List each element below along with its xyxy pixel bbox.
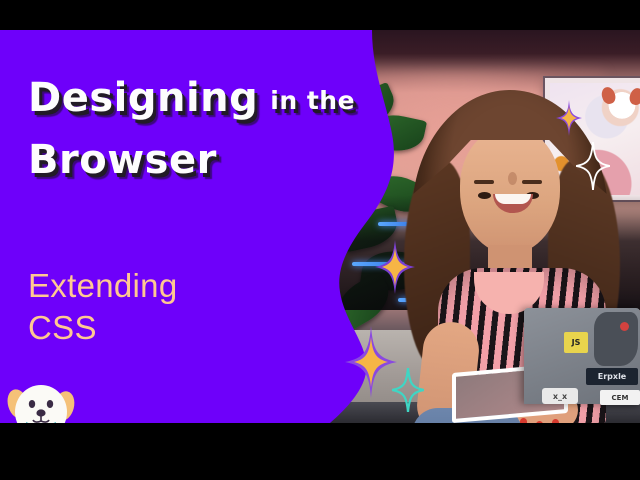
- title-word-browser: Browser: [28, 140, 388, 180]
- sparkle-gold-lower: [345, 326, 397, 398]
- sparkle-teal: [392, 368, 424, 412]
- subtitle-line-2: CSS: [28, 307, 177, 349]
- title-block: Designing in the Browser: [28, 78, 388, 180]
- sparkle-white-poster: [556, 100, 582, 136]
- dog-mascot-logo: [4, 382, 82, 423]
- mascot-nose: [36, 409, 45, 416]
- subtitle-line-1: Extending: [28, 265, 177, 307]
- sparkle-white-frame: [576, 142, 610, 190]
- video-frame: JS Erpxle CEM x_x: [0, 30, 640, 423]
- title-words-in-the: in the: [270, 88, 355, 118]
- subtitle-block: Extending CSS: [28, 265, 177, 349]
- title-line-1: Designing in the: [28, 78, 388, 118]
- title-word-designing: Designing: [28, 78, 258, 118]
- video-thumbnail-stage: JS Erpxle CEM x_x: [0, 0, 640, 480]
- mascot-eye-right: [47, 400, 53, 408]
- sparkle-gold-upper: [375, 240, 415, 294]
- mascot-eye-left: [29, 400, 35, 408]
